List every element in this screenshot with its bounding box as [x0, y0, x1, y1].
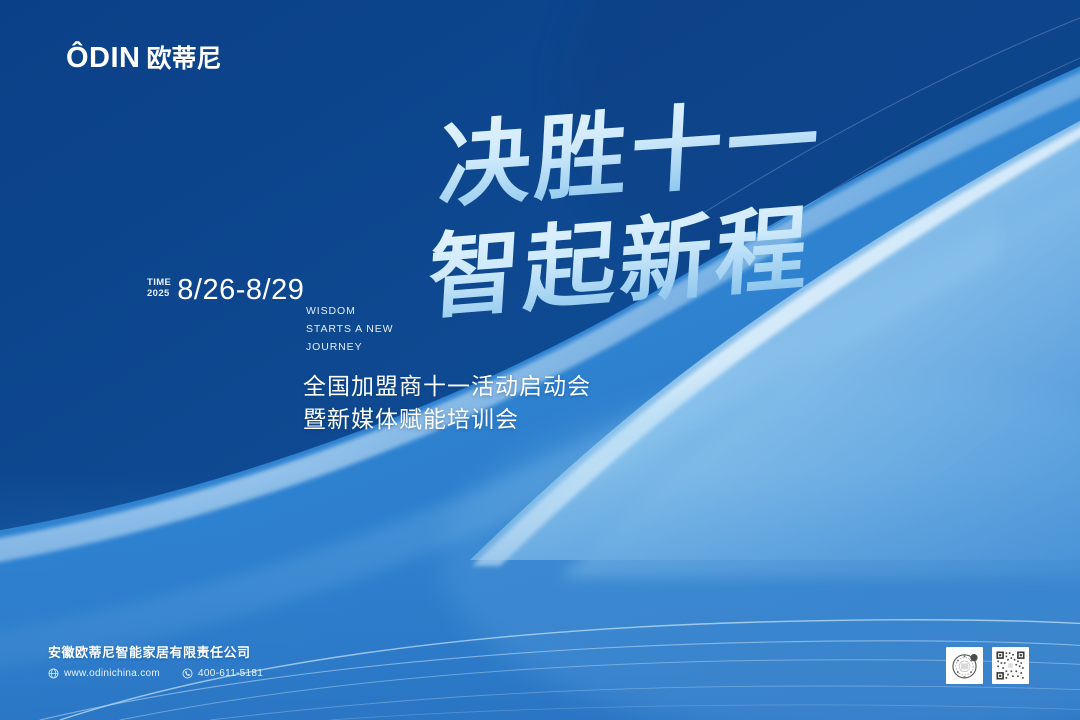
tagline-line-3: JOURNEY — [306, 338, 393, 356]
event-subtitle-line-1: 全国加盟商十一活动启动会 — [303, 370, 591, 403]
globe-icon — [48, 668, 59, 679]
event-date: TIME 2025 8/26-8/29 — [147, 276, 304, 305]
event-date-kicker: TIME 2025 — [147, 278, 171, 302]
wechat-mini-program-qr[interactable] — [992, 647, 1029, 684]
tagline-line-1: WISDOM — [306, 302, 393, 320]
english-tagline: WISDOM STARTS A NEW JOURNEY — [306, 302, 393, 356]
footer-website-text: www.odinichina.com — [64, 668, 160, 679]
phone-icon — [182, 668, 193, 679]
brand-logo-chinese: 欧蒂尼 — [147, 47, 222, 72]
event-poster: ÔDIN 欧蒂尼 决胜十一 智起新程 TIME 2025 8/26-8/29 W… — [0, 0, 1080, 720]
brand-logo-mark: ÔDIN — [66, 44, 141, 73]
event-subtitle: 全国加盟商十一活动启动会 暨新媒体赋能培训会 — [303, 370, 591, 435]
event-subtitle-line-2: 暨新媒体赋能培训会 — [303, 403, 591, 436]
main-title-calligraphy: 决胜十一 智起新程 — [440, 112, 910, 352]
event-date-year: 2025 — [147, 289, 171, 300]
brand-logo: ÔDIN 欧蒂尼 — [66, 44, 222, 73]
wechat-official-account-qr[interactable] — [946, 647, 983, 684]
footer-company-name: 安徽欧蒂尼智能家居有限责任公司 — [48, 645, 263, 661]
footer-contact-row: www.odinichina.com 400-611-5181 — [48, 668, 263, 679]
event-date-range: 8/26-8/29 — [177, 276, 304, 305]
footer-phone-text: 400-611-5181 — [198, 668, 263, 679]
footer-website: www.odinichina.com — [48, 668, 160, 679]
footer-phone: 400-611-5181 — [182, 668, 263, 679]
tagline-line-2: STARTS A NEW — [306, 320, 393, 338]
footer: 安徽欧蒂尼智能家居有限责任公司 www.odinichina.com 400-6… — [48, 645, 263, 679]
qr-code-group — [946, 647, 1029, 684]
